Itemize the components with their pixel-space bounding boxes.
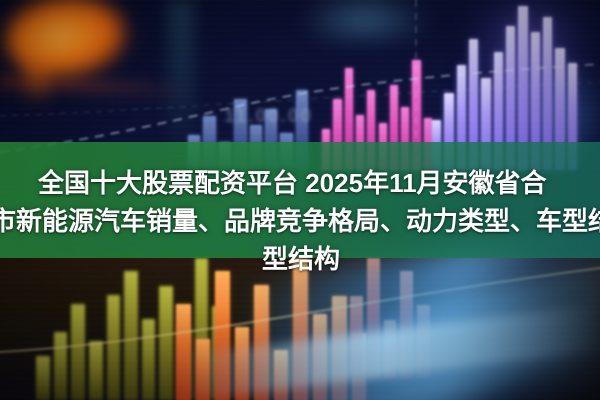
headline-line-1: 全国十大股票配资平台 2025年11月安徽省合 — [38, 164, 547, 202]
screenshot-canvas: 11.00.00 全国十大股票配资平台 2025年11月安徽省合 市新能源汽车销… — [0, 0, 600, 400]
headline-block: 全国十大股票配资平台 2025年11月安徽省合 市新能源汽车销量、品牌竞争格局、… — [0, 0, 600, 400]
headline-line-2: 市新能源汽车销量、品牌竞争格局、动力类型、车型结 — [0, 202, 600, 240]
headline-line-3: 型结构 — [262, 240, 340, 278]
